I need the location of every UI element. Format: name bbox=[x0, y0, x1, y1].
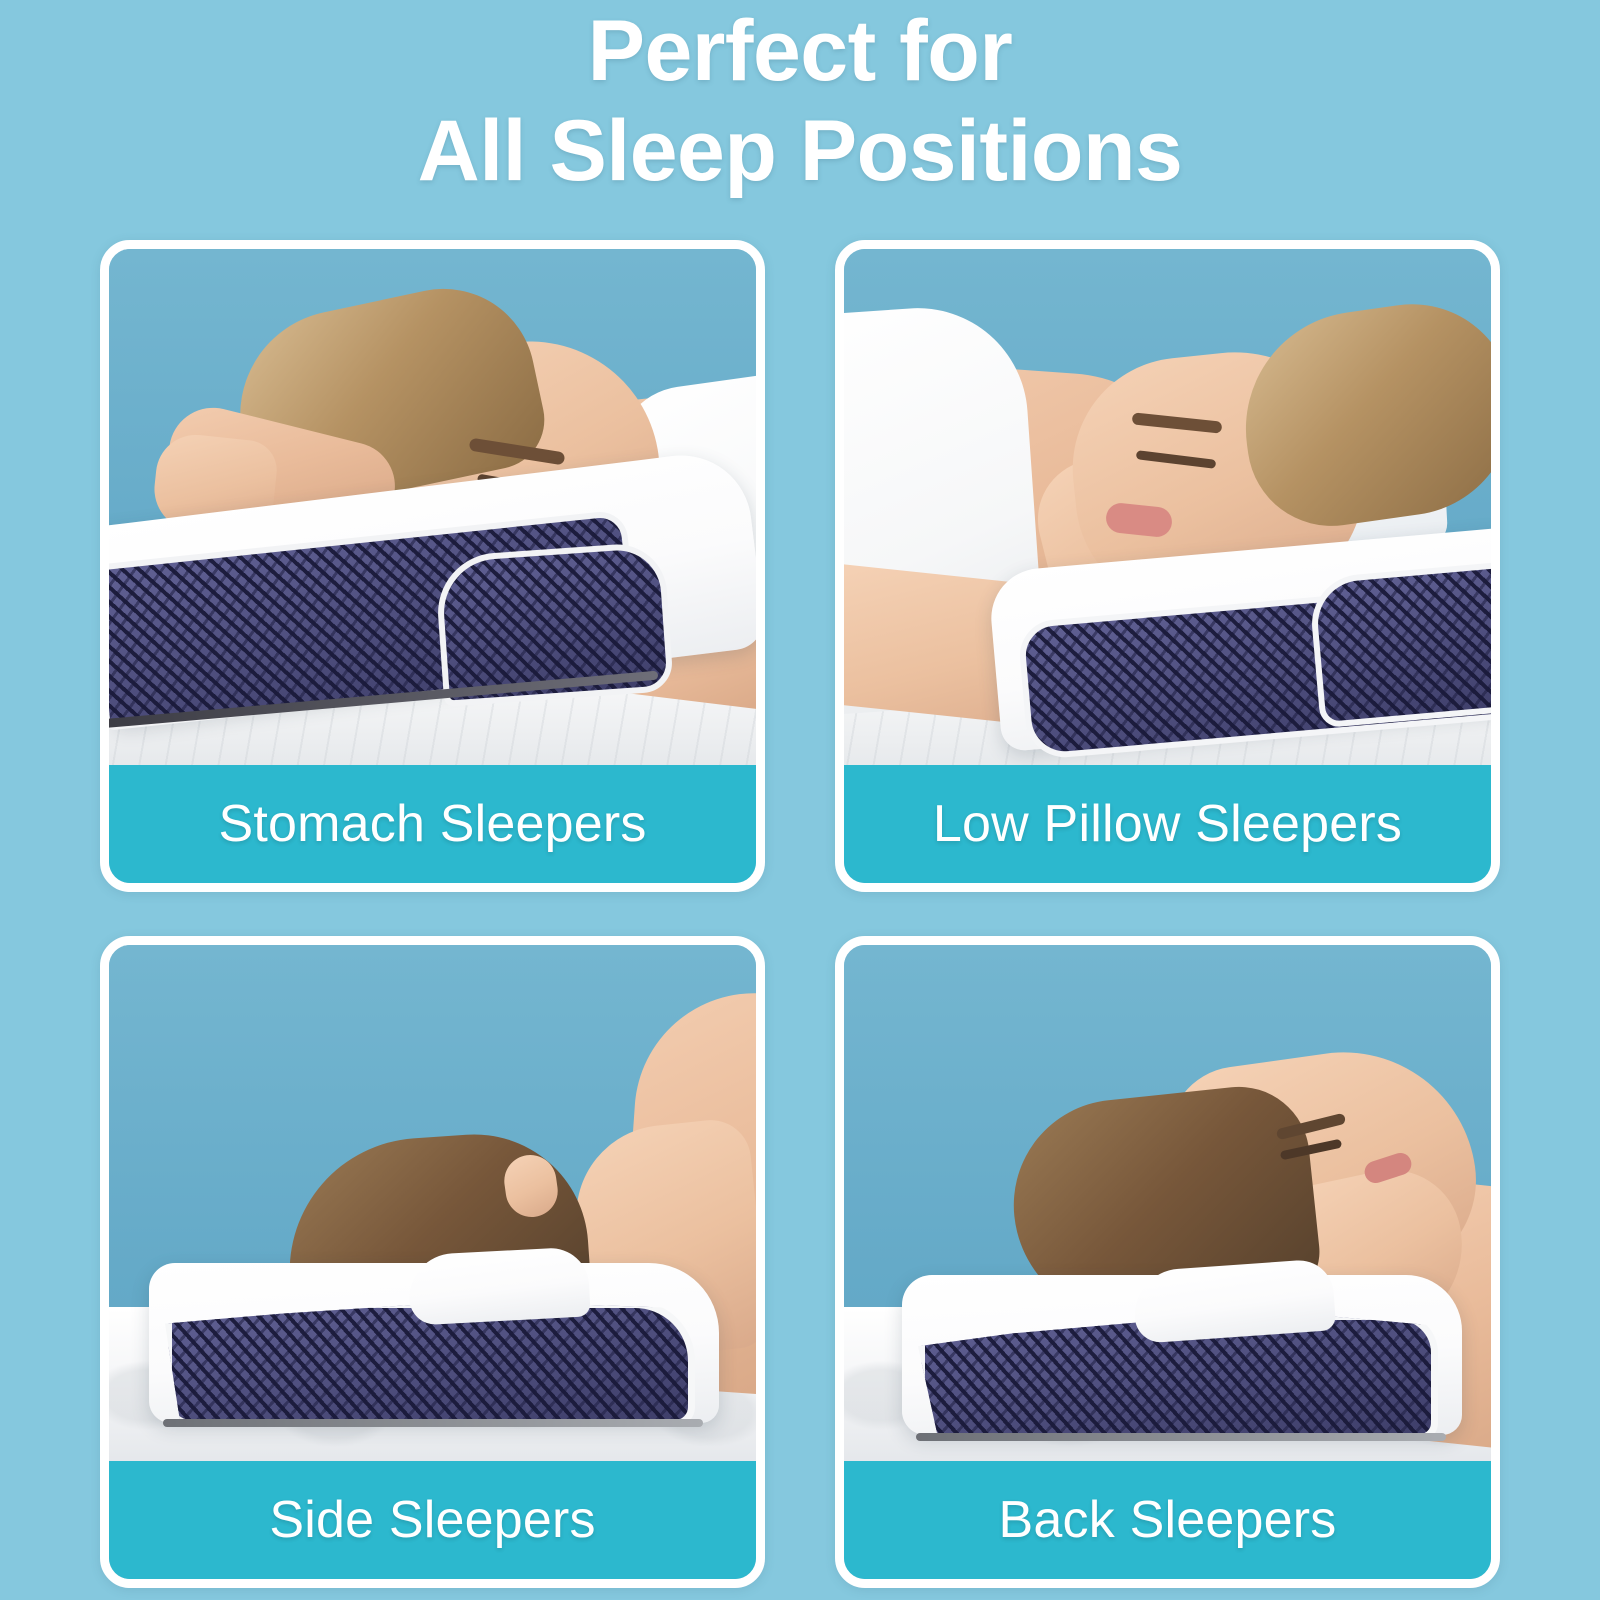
page-title: Perfect for All Sleep Positions bbox=[0, 8, 1600, 194]
panel-side-sleepers[interactable]: Side Sleepers bbox=[100, 936, 765, 1588]
photo-back-sleepers bbox=[844, 945, 1491, 1463]
headline-line-1: Perfect for bbox=[0, 8, 1600, 94]
sleep-position-grid: Stomach Sleepers bbox=[100, 240, 1500, 1588]
caption-side-sleepers: Side Sleepers bbox=[109, 1461, 756, 1579]
caption-low-pillow-sleepers: Low Pillow Sleepers bbox=[844, 765, 1491, 883]
panel-stomach-sleepers[interactable]: Stomach Sleepers bbox=[100, 240, 765, 892]
pillow-contour bbox=[1308, 560, 1491, 729]
panel-low-pillow-sleepers[interactable]: Low Pillow Sleepers bbox=[835, 240, 1500, 892]
photo-side-sleepers bbox=[109, 945, 756, 1463]
pillow-base-shadow bbox=[163, 1419, 703, 1427]
hair bbox=[1231, 291, 1491, 537]
photo-stomach-sleepers bbox=[109, 249, 756, 767]
panel-back-sleepers[interactable]: Back Sleepers bbox=[835, 936, 1500, 1588]
pillow-contour-dip bbox=[407, 1246, 590, 1325]
pillow-base-shadow bbox=[916, 1433, 1446, 1441]
photo-low-pillow-sleepers bbox=[844, 249, 1491, 767]
caption-stomach-sleepers: Stomach Sleepers bbox=[109, 765, 756, 883]
headline-line-2: All Sleep Positions bbox=[0, 108, 1600, 194]
caption-back-sleepers: Back Sleepers bbox=[844, 1461, 1491, 1579]
